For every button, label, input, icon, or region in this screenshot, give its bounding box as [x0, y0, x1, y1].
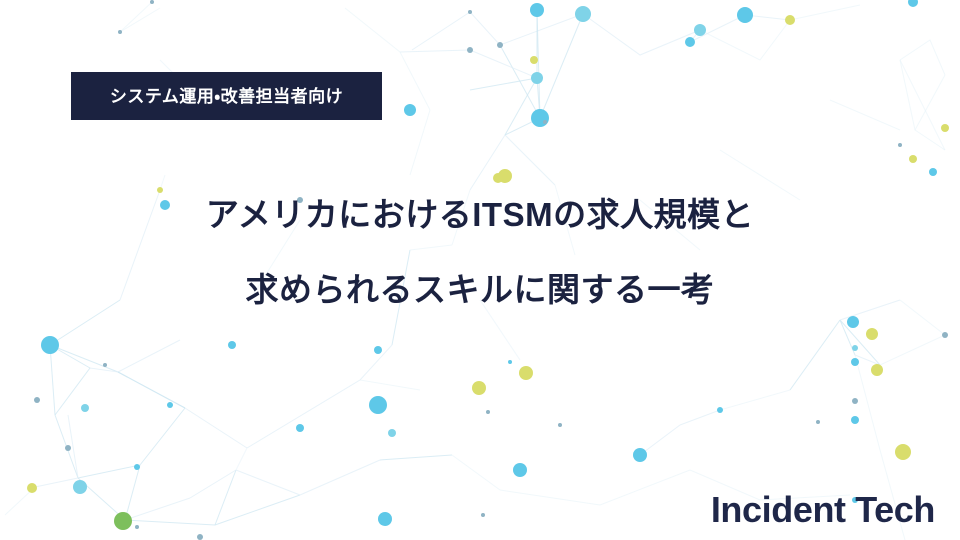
title-line-1: アメリカにおけるITSMの求人規模と — [0, 198, 960, 231]
brand-logo: Incident Tech — [711, 492, 935, 528]
page-title: アメリカにおけるITSMの求人規模と 求められるスキルに関する一考 — [0, 198, 960, 306]
title-slide: .ln { stroke: #cfe7f2; stroke-width: 1; … — [0, 0, 960, 540]
audience-badge-label: システム運用・改善担当者向け — [110, 88, 343, 105]
title-line-2: 求められるスキルに関する一考 — [0, 273, 960, 306]
brand-logo-text: Incident Tech — [711, 492, 935, 528]
audience-badge: システム運用・改善担当者向け — [71, 72, 382, 120]
